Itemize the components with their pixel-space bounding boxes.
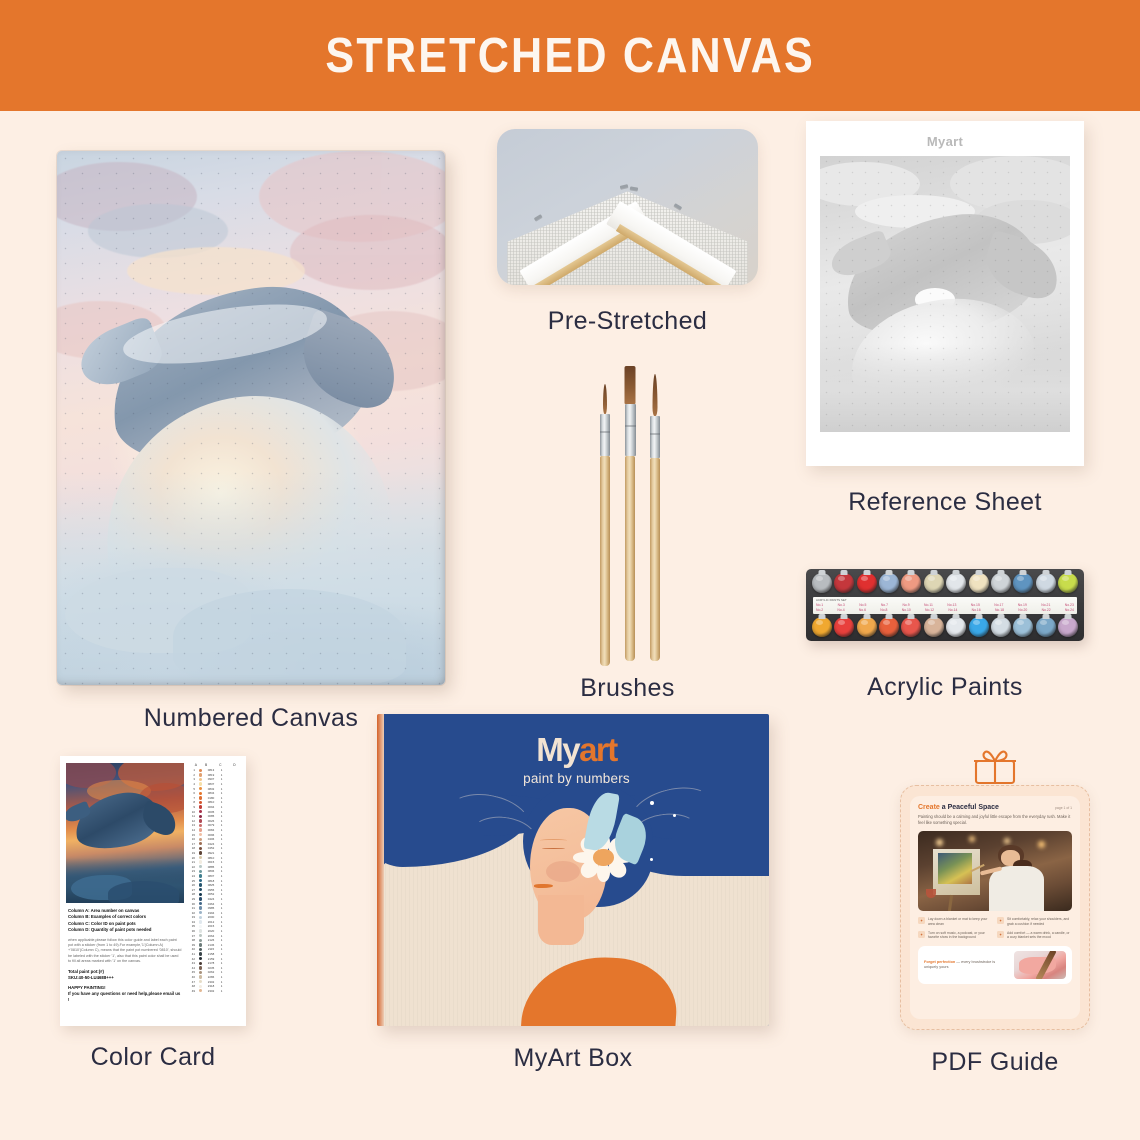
- cc-swatch-cell: [197, 888, 204, 891]
- col-header-a: A: [190, 763, 199, 767]
- paint-code: No.2: [816, 608, 823, 613]
- cc-swatch-cell: [197, 847, 204, 850]
- paint-pot[interactable]: [901, 617, 921, 637]
- paint-pot[interactable]: [969, 573, 989, 593]
- paint-pot[interactable]: [834, 617, 854, 637]
- color-card-rows: 1081312081913090714083715083216083417018…: [188, 768, 240, 993]
- cc-color-swatch: [199, 989, 202, 992]
- cc-color-swatch: [199, 883, 202, 886]
- staple-icon: [674, 204, 682, 211]
- cc-swatch-cell: [197, 971, 204, 974]
- cc-color-swatch: [199, 925, 202, 928]
- cc-swatch-cell: [197, 934, 204, 937]
- cc-color-swatch: [199, 769, 202, 772]
- eyebrow: [540, 839, 567, 842]
- cc-color-swatch: [199, 952, 202, 955]
- cc-color-swatch: [199, 934, 202, 937]
- cc-color-swatch: [199, 787, 202, 790]
- col-header-b: B: [203, 763, 210, 767]
- cc-swatch-cell: [197, 842, 204, 845]
- cc-swatch-cell: [197, 975, 204, 978]
- cc-swatch-cell: [197, 879, 204, 882]
- neck: [538, 895, 584, 945]
- cc-swatch-cell: [197, 815, 204, 818]
- reference-sheet-item[interactable]: Myart Reference Sheet: [806, 121, 1084, 517]
- color-card-table: A B C D 10813120819130907140837150832160…: [188, 763, 240, 1019]
- numbered-canvas-item[interactable]: Numbered Canvas: [57, 151, 445, 733]
- paint-pot-row-top: [810, 573, 1080, 593]
- cc-swatch-cell: [197, 902, 204, 905]
- cc-color-swatch: [199, 957, 202, 960]
- box-logo-text: Myart: [384, 731, 769, 769]
- box-front-face: Myart paint by numbers: [384, 714, 769, 1026]
- cc-swatch-cell: [197, 805, 204, 808]
- paint-pot[interactable]: [857, 573, 877, 593]
- cc-swatch-cell: [197, 893, 204, 896]
- paint-pot[interactable]: [1013, 573, 1033, 593]
- cc-swatch-cell: [197, 819, 204, 822]
- pdf-banner: Forget perfection — every brushstroke is…: [918, 946, 1072, 984]
- pdf-page-number: page 1 of 1: [1055, 806, 1072, 810]
- cc-swatch-cell: [197, 870, 204, 873]
- cc-swatch-cell: [197, 833, 204, 836]
- cc-swatch-cell: [197, 943, 204, 946]
- myart-box-image: Myart paint by numbers: [377, 714, 769, 1026]
- cc-swatch-cell: [197, 920, 204, 923]
- cc-color-swatch: [199, 824, 202, 827]
- pdf-tip: ✦Add comfort — a warm drink, a candle, o…: [997, 931, 1071, 941]
- myart-box-item[interactable]: Myart paint by numbers MyArt Box: [377, 714, 769, 1073]
- cc-color-swatch: [199, 847, 202, 850]
- cc-color-swatch: [199, 906, 202, 909]
- contact-line: If you have any questions or need help,p…: [68, 991, 182, 1003]
- paint-code: No.4: [837, 608, 844, 613]
- paint-code: No.14: [948, 608, 957, 613]
- cc-swatch-cell: [197, 939, 204, 942]
- product-grid: Numbered Canvas Pre-Stretched Myart: [0, 111, 1140, 1140]
- cc-swatch-cell: [197, 911, 204, 914]
- color-card-caption: Color Card: [60, 1043, 246, 1072]
- decorative-dot: [650, 858, 653, 861]
- cc-swatch-cell: [197, 838, 204, 841]
- box-spine: [377, 714, 384, 1026]
- cc-color-swatch: [199, 902, 202, 905]
- paint-pot[interactable]: [812, 617, 832, 637]
- paint-code: No.12: [925, 608, 934, 613]
- cc-swatch-cell: [197, 778, 204, 781]
- cc-color-swatch: [199, 819, 202, 822]
- paint-code: No.16: [972, 608, 981, 613]
- tip-text: Lay down a blanket or mat to keep your a…: [928, 917, 992, 927]
- cc-swatch-cell: [197, 828, 204, 831]
- legend-line: Column D: Quantity of paint pots needed: [68, 927, 182, 933]
- cc-swatch-cell: [197, 906, 204, 909]
- cc-swatch-cell: [197, 787, 204, 790]
- paint-pot[interactable]: [1013, 617, 1033, 637]
- pdf-tip: ✦Lay down a blanket or mat to keep your …: [918, 917, 992, 927]
- staple-icon: [533, 215, 541, 222]
- acrylic-paints-item[interactable]: ACRYLIC PAINTS SET No.1No.3No.5No.7No.9N…: [806, 569, 1084, 702]
- cc-color-swatch: [199, 865, 202, 868]
- brush-flat: [625, 366, 635, 661]
- paint-pot[interactable]: [946, 617, 966, 637]
- paint-code: No.18: [995, 608, 1004, 613]
- cc-color-swatch: [199, 778, 202, 781]
- paint-pot[interactable]: [1036, 617, 1056, 637]
- pdf-tip: ✦Turn on soft music, a podcast, or your …: [918, 931, 992, 941]
- cc-area-number: 49: [188, 989, 197, 993]
- paint-pot[interactable]: [879, 617, 899, 637]
- cc-color-swatch: [199, 828, 202, 831]
- brushes-caption: Brushes: [497, 674, 758, 703]
- color-card-text: Column A: Area number on canvas Column B…: [66, 903, 184, 1004]
- paint-pot[interactable]: [1058, 573, 1078, 593]
- pre-stretched-image: [497, 129, 758, 285]
- col-header-c: C: [213, 763, 227, 767]
- pdf-guide-image: Create a Peaceful Space page 1 of 1 Pain…: [900, 785, 1090, 1030]
- cc-color-swatch: [199, 805, 202, 808]
- cc-color-swatch: [199, 874, 202, 877]
- cc-swatch-cell: [197, 957, 204, 960]
- cc-swatch-cell: [197, 985, 204, 988]
- logo-my: My: [536, 731, 579, 768]
- col-header-d: D: [231, 763, 238, 767]
- pdf-guide-caption: PDF Guide: [900, 1048, 1090, 1077]
- cc-swatch-cell: [197, 883, 204, 886]
- cc-color-swatch: [199, 948, 202, 951]
- pdf-tips-list: ✦Lay down a blanket or mat to keep your …: [918, 917, 1072, 940]
- cc-swatch-cell: [197, 929, 204, 932]
- color-card-artwork: [66, 763, 184, 903]
- cc-color-swatch: [199, 801, 202, 804]
- cc-swatch-cell: [197, 782, 204, 785]
- cc-color-swatch: [199, 916, 202, 919]
- cc-swatch-cell: [197, 810, 204, 813]
- color-card-note: when applicable,please follow this color…: [68, 938, 182, 965]
- cc-swatch-cell: [197, 801, 204, 804]
- cc-swatch-cell: [197, 796, 204, 799]
- paint-code: No.10: [902, 608, 911, 613]
- cc-color-swatch: [199, 860, 202, 863]
- tip-text: Add comfort — a warm drink, a candle, or…: [1007, 931, 1071, 941]
- cc-swatch-cell: [197, 916, 204, 919]
- color-card-item[interactable]: Column A: Area number on canvas Column B…: [60, 756, 246, 1072]
- sku-line: SKU:40-50-LU4688+++: [68, 975, 182, 981]
- cc-color-swatch: [199, 815, 202, 818]
- logo-art: art: [579, 731, 617, 768]
- paint-pot[interactable]: [857, 617, 877, 637]
- pdf-page: Create a Peaceful Space page 1 of 1 Pain…: [910, 796, 1080, 1019]
- tip-text: Sit comfortably, relax your shoulders, a…: [1007, 917, 1071, 927]
- paint-code: No.20: [1018, 608, 1027, 613]
- paint-pot[interactable]: [812, 573, 832, 593]
- paint-pot[interactable]: [991, 573, 1011, 593]
- paint-code: No.22: [1042, 608, 1051, 613]
- cc-color-swatch: [199, 810, 202, 813]
- paint-pot-row-bottom: [810, 617, 1080, 637]
- paint-code: No.6: [859, 608, 866, 613]
- decorative-dot: [673, 814, 676, 817]
- reference-sheet-logo: Myart: [820, 134, 1070, 149]
- banner-thumbnail: [1014, 951, 1066, 979]
- cc-color-swatch: [199, 985, 202, 988]
- cc-color-swatch: [199, 897, 202, 900]
- cc-color-swatch: [199, 920, 202, 923]
- cc-color-swatch: [199, 870, 202, 873]
- paint-by-number-dots: [57, 151, 445, 685]
- cc-color-swatch: [199, 975, 202, 978]
- cc-swatch-cell: [197, 824, 204, 827]
- box-tagline: paint by numbers: [384, 771, 769, 786]
- cc-color-swatch: [199, 943, 202, 946]
- tip-bullet-icon: ✦: [918, 917, 925, 924]
- cc-swatch-cell: [197, 860, 204, 863]
- paint-code: No.24: [1065, 608, 1074, 613]
- cc-swatch-cell: [197, 952, 204, 955]
- color-card-image: Column A: Area number on canvas Column B…: [60, 756, 246, 1026]
- tip-bullet-icon: ✦: [997, 931, 1004, 938]
- brush-round-pointed: [650, 374, 660, 661]
- cc-swatch-cell: [197, 966, 204, 969]
- paint-code: No.8: [880, 608, 887, 613]
- cc-color-swatch: [199, 842, 202, 845]
- tip-bullet-icon: ✦: [918, 931, 925, 938]
- cc-color-swatch: [199, 796, 202, 799]
- pdf-guide-item[interactable]: Create a Peaceful Space page 1 of 1 Pain…: [900, 747, 1090, 1077]
- cc-color-swatch: [199, 939, 202, 942]
- pdf-subtitle: Painting should be a calming and joyful …: [918, 814, 1072, 826]
- cc-color-id: 2302: [204, 989, 218, 993]
- banner-text: Forget perfection — every brushstroke is…: [924, 960, 1009, 970]
- cc-color-swatch: [199, 980, 202, 983]
- pdf-photo: [918, 831, 1072, 911]
- banner-accent: Forget perfection: [924, 960, 955, 964]
- cc-swatch-cell: [197, 773, 204, 776]
- cc-swatch-cell: [197, 769, 204, 772]
- paint-pot[interactable]: [924, 617, 944, 637]
- cc-swatch-cell: [197, 925, 204, 928]
- cc-color-swatch: [199, 962, 202, 965]
- cc-swatch-cell: [197, 874, 204, 877]
- brushes-item[interactable]: Brushes: [497, 366, 758, 703]
- cc-swatch-cell: [197, 851, 204, 854]
- paint-label-codes-bottom: No.2No.4No.6No.8No.10No.12No.14No.16No.1…: [816, 608, 1074, 613]
- page-header: STRETCHED CANVAS: [0, 0, 1140, 111]
- reference-sheet-artwork: [820, 156, 1070, 432]
- paint-pot[interactable]: [969, 617, 989, 637]
- page-title: STRETCHED CANVAS: [325, 28, 815, 84]
- gift-icon: [900, 747, 1090, 785]
- cc-color-swatch: [199, 971, 202, 974]
- staple-icon: [619, 184, 627, 189]
- cc-swatch-cell: [197, 856, 204, 859]
- paint-tray: ACRYLIC PAINTS SET No.1No.3No.5No.7No.9N…: [806, 569, 1084, 641]
- cc-color-swatch: [199, 782, 202, 785]
- paint-pot[interactable]: [901, 573, 921, 593]
- pdf-title: Create a Peaceful Space: [918, 804, 999, 811]
- cc-color-swatch: [199, 911, 202, 914]
- cc-color-swatch: [199, 856, 202, 859]
- paint-pot[interactable]: [834, 573, 854, 593]
- cc-color-swatch: [199, 792, 202, 795]
- pdf-title-accent: Create: [918, 804, 940, 811]
- cc-swatch-cell: [197, 980, 204, 983]
- cc-color-swatch: [199, 879, 202, 882]
- cc-swatch-cell: [197, 792, 204, 795]
- pre-stretched-item[interactable]: Pre-Stretched: [497, 129, 758, 336]
- cc-swatch-cell: [197, 897, 204, 900]
- cc-color-swatch: [199, 773, 202, 776]
- cc-color-swatch: [199, 929, 202, 932]
- paint-pot[interactable]: [879, 573, 899, 593]
- paint-pot[interactable]: [946, 573, 966, 593]
- cc-color-swatch: [199, 851, 202, 854]
- pre-stretched-caption: Pre-Stretched: [497, 307, 758, 336]
- cc-color-swatch: [199, 966, 202, 969]
- reference-sheet-image: Myart: [806, 121, 1084, 466]
- cc-swatch-cell: [197, 989, 204, 992]
- cc-color-swatch: [199, 833, 202, 836]
- reference-sheet-caption: Reference Sheet: [806, 488, 1084, 517]
- acrylic-paints-caption: Acrylic Paints: [806, 673, 1084, 702]
- pdf-tip: ✦Sit comfortably, relax your shoulders, …: [997, 917, 1071, 927]
- cc-swatch-cell: [197, 948, 204, 951]
- box-logo-block: Myart paint by numbers: [384, 731, 769, 786]
- paint-pot[interactable]: [1036, 573, 1056, 593]
- staple-icon: [630, 186, 638, 190]
- brush-small-round: [600, 384, 610, 666]
- cc-swatch-cell: [197, 962, 204, 965]
- pdf-header: Create a Peaceful Space page 1 of 1: [918, 804, 1072, 811]
- tip-bullet-icon: ✦: [997, 917, 1004, 924]
- paint-pot[interactable]: [924, 573, 944, 593]
- paint-tray-label: ACRYLIC PAINTS SET No.1No.3No.5No.7No.9N…: [813, 597, 1077, 614]
- cc-color-swatch: [199, 838, 202, 841]
- myart-box-caption: MyArt Box: [377, 1044, 769, 1073]
- numbered-canvas-image: [57, 151, 445, 685]
- tip-text: Turn on soft music, a podcast, or your f…: [928, 931, 992, 941]
- pdf-title-rest: a Peaceful Space: [940, 804, 999, 811]
- cc-color-swatch: [199, 893, 202, 896]
- color-card-left-column: Column A: Area number on canvas Column B…: [66, 763, 184, 1019]
- cc-swatch-cell: [197, 865, 204, 868]
- paint-pot[interactable]: [991, 617, 1011, 637]
- paint-pot[interactable]: [1058, 617, 1078, 637]
- cc-quantity: 1: [218, 989, 225, 993]
- color-card-row: 4923021: [188, 989, 240, 994]
- brushes-image: [497, 366, 758, 666]
- cc-color-swatch: [199, 888, 202, 891]
